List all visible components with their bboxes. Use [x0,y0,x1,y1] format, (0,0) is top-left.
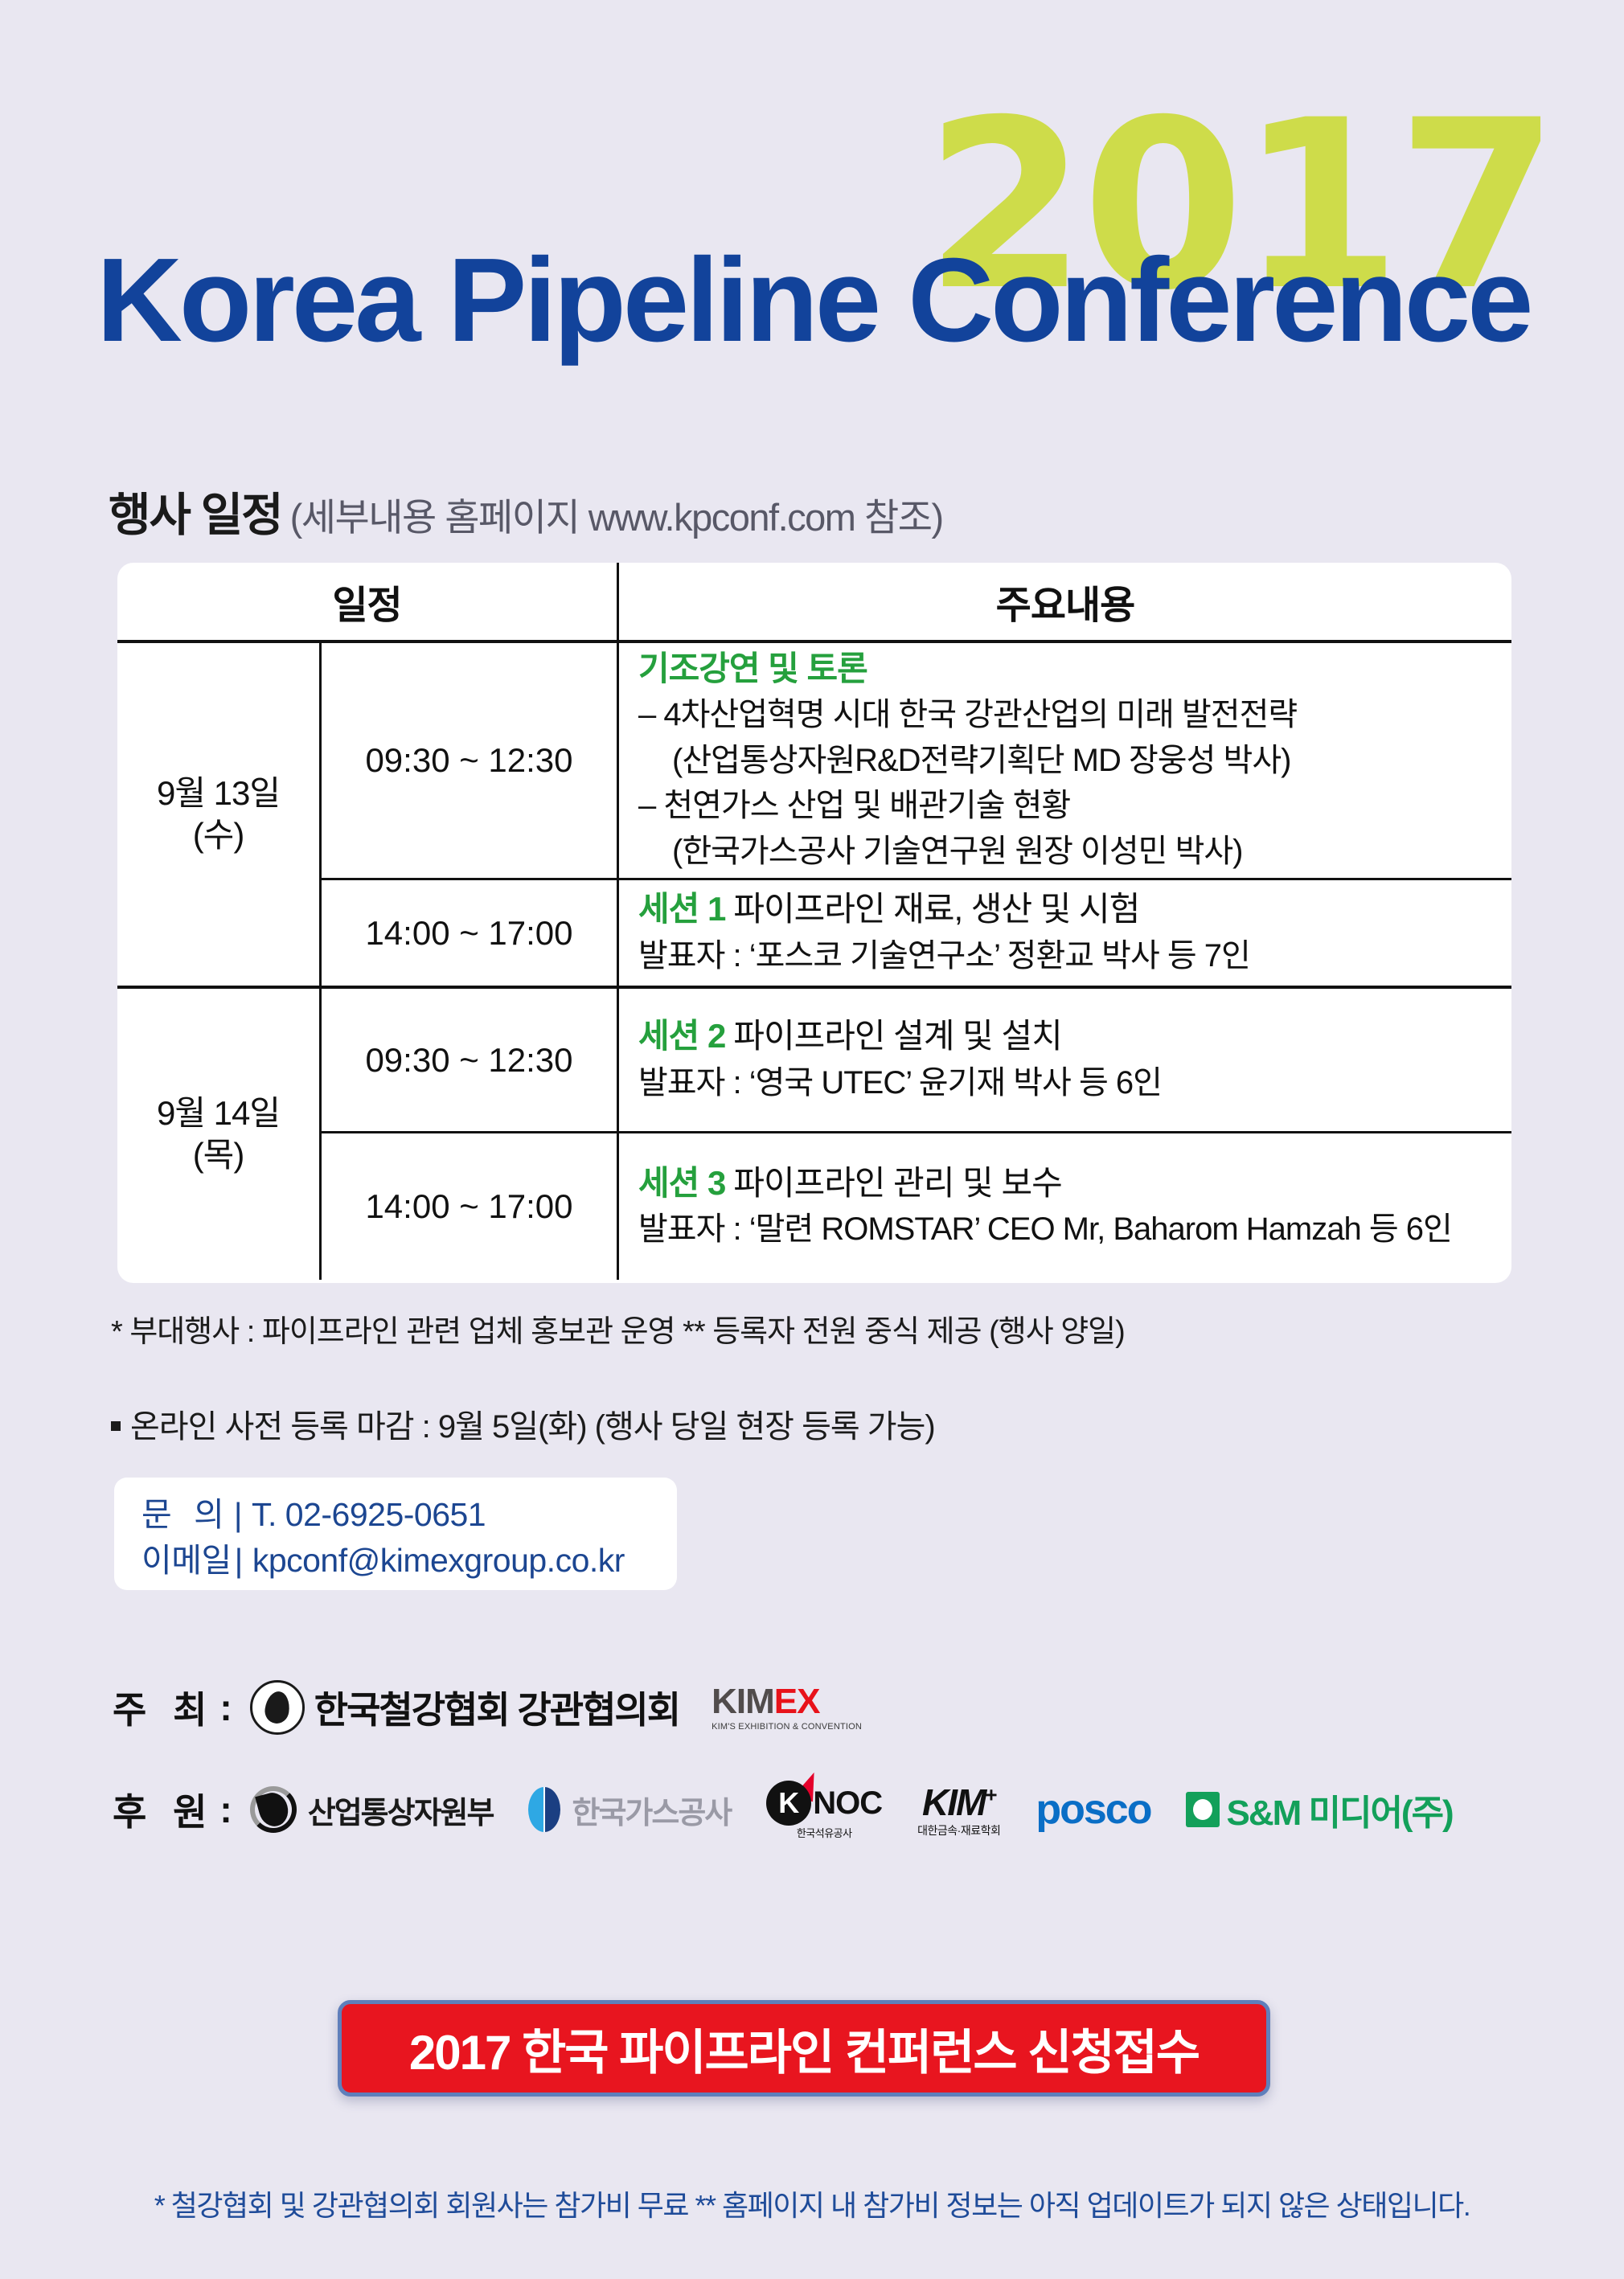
kimex-tagline: KIM'S EXHIBITION & CONVENTION [712,1723,862,1732]
sponsor-name: S&M 미디어(주) [1226,1784,1452,1835]
schedule-heading: 행사 일정(세부내용 홈페이지 www.kpconf.com 참조) [109,478,943,544]
session-time: 09:30 ~ 12:30 [322,643,617,878]
sponsor-label: 후 원 [113,1783,215,1836]
session-presenter: 발표자 : ‘포스코 기술연구소’ 정환교 박사 등 7인 [638,933,1497,979]
table-row: 14:00 ~ 17:00 세션 1파이프라인 재료, 생산 및 시험 발표자 … [322,880,1511,989]
kim-icon: KIM+ [922,1784,996,1821]
sponsor-colon: : [219,1788,232,1831]
contact-email-value[interactable]: kpconf@kimexgroup.co.kr [252,1542,625,1579]
session-content: 세션 2파이프라인 설계 및 설치 발표자 : ‘영국 UTEC’ 윤기재 박사… [617,989,1511,1131]
session-content: 기조강연 및 토론 – 4차산업혁명 시대 한국 강관산업의 미래 발전전략 (… [617,643,1511,878]
registration-deadline-note: 온라인 사전 등록 마감 : 9월 5일(화) (행사 당일 현장 등록 가능) [111,1400,935,1447]
sponsor-name-korean: 한국석유공사 [797,1828,852,1838]
session-time: 14:00 ~ 17:00 [322,1133,617,1280]
session-content: 세션 3파이프라인 관리 및 보수 발표자 : ‘말련 ROMSTAR’ CEO… [617,1133,1511,1280]
session-detail-line: – 4차산업혁명 시대 한국 강관산업의 미래 발전전략 [638,692,1497,738]
kimex-wordmark: KIMEX [712,1684,862,1719]
knoc-k-mark: K [766,1781,811,1826]
session-number: 세션 1 [638,890,725,928]
kimex-ex-part: EX [774,1682,820,1721]
sponsor-name: 산업통상자원부 [308,1788,494,1832]
sponsor-row: 후 원 : 산업통상자원부 한국가스공사 K NOC 한국석유공사 KIM+ 대… [113,1781,1453,1838]
table-row: 09:30 ~ 12:30 기조강연 및 토론 – 4차산업혁명 시대 한국 강… [322,643,1511,880]
sm-media-icon [1186,1792,1220,1827]
kim-wordmark: KIM [922,1781,985,1823]
contact-box: 문 의|T. 02-6925-0651 이메일|kpconf@kimexgrou… [114,1478,677,1590]
contact-phone-line: 문 의|T. 02-6925-0651 [141,1492,677,1538]
table-row-day-2: 9월 14일 (목) [117,989,319,1280]
sponsor-logo-kogas: 한국가스공사 [528,1787,731,1832]
session-subject: 파이프라인 관리 및 보수 [733,1164,1061,1202]
motie-taegeuk-icon [250,1786,297,1833]
schedule-heading-strong: 행사 일정 [109,490,282,541]
schedule-table: 일정 주요내용 9월 13일 (수) 9월 14일 (목) 09:30 ~ 12… [117,563,1511,1283]
contact-separator: | [235,1542,243,1579]
table-body: 9월 13일 (수) 9월 14일 (목) 09:30 ~ 12:30 기조강연… [117,643,1511,1280]
session-title: 세션 3파이프라인 관리 및 보수 [638,1161,1497,1207]
session-title: 세션 2파이프라인 설계 및 설치 [638,1014,1497,1060]
organizer-name: 한국철강협회 강관협의회 [314,1681,679,1734]
page-title: Korea Pipeline Conference [96,241,1530,360]
registration-deadline-text: 온라인 사전 등록 마감 : 9월 5일(화) (행사 당일 현장 등록 가능) [130,1409,935,1445]
knoc-icon: K NOC [766,1781,882,1826]
organizer-colon: : [219,1686,232,1729]
square-bullet-icon [111,1421,121,1431]
registration-cta-label: 2017 한국 파이프라인 컨퍼런스 신청접수 [409,2014,1199,2084]
sponsor-name-korean: 대한금속·재료학회 [917,1825,1000,1836]
column-header-date: 일정 [117,563,617,640]
kim-plus-mark: + [985,1782,995,1806]
contact-email-label: 이메일 [141,1542,232,1579]
registration-cta-button[interactable]: 2017 한국 파이프라인 컨퍼런스 신청접수 [338,2000,1270,2097]
table-row: 14:00 ~ 17:00 세션 3파이프라인 관리 및 보수 발표자 : ‘말… [322,1133,1511,1280]
kosa-emblem-icon [250,1680,305,1735]
kogas-icon [528,1787,560,1832]
sponsor-name: NOC [813,1787,882,1819]
footer-note: * 철강협회 및 강관협의회 회원사는 참가비 무료 ** 홈페이지 내 참가비… [0,2183,1624,2224]
session-rows: 09:30 ~ 12:30 기조강연 및 토론 – 4차산업혁명 시대 한국 강… [319,643,1511,1280]
session-title: 기조강연 및 토론 [638,646,1497,692]
session-title: 세션 1파이프라인 재료, 생산 및 시험 [638,887,1497,933]
day-1-date: 9월 13일 [157,773,280,815]
session-presenter: 발표자 : ‘영국 UTEC’ 윤기재 박사 등 6인 [638,1060,1497,1106]
kimex-k-part: KIM [712,1682,774,1721]
day-2-weekday: (목) [193,1134,244,1177]
session-number: 세션 2 [638,1017,725,1055]
session-detail-line: – 천연가스 산업 및 배관기술 현황 [638,783,1497,829]
session-subject: 파이프라인 설계 및 설치 [733,1017,1061,1055]
organizer-label: 주 최 [113,1681,215,1734]
organizer-logo-kimex: KIMEX KIM'S EXHIBITION & CONVENTION [712,1684,862,1732]
organizer-row: 주 최 : 한국철강협회 강관협의회 KIMEX KIM'S EXHIBITIO… [113,1680,862,1735]
column-header-content: 주요내용 [617,563,1511,640]
day-2-date: 9월 14일 [157,1092,280,1135]
table-row: 09:30 ~ 12:30 세션 2파이프라인 설계 및 설치 발표자 : ‘영… [322,989,1511,1133]
table-row-day-1: 9월 13일 (수) [117,643,319,989]
session-number: 세션 3 [638,1164,725,1202]
schedule-heading-sub: (세부내용 홈페이지 www.kpconf.com 참조) [290,496,943,539]
sponsor-logo-sm-media: S&M 미디어(주) [1186,1784,1452,1835]
sponsor-logo-motie: 산업통상자원부 [250,1786,494,1833]
side-event-note: * 부대행사 : 파이프라인 관련 업체 홍보관 운영 ** 등록자 전원 중식… [111,1306,1125,1351]
session-subject: 파이프라인 재료, 생산 및 시험 [733,890,1139,928]
sponsor-logo-kim: KIM+ 대한금속·재료학회 [917,1784,1000,1836]
session-presenter: 발표자 : ‘말련 ROMSTAR’ CEO Mr, Baharom Hamza… [638,1206,1497,1252]
sponsor-logo-knoc: K NOC 한국석유공사 [766,1781,882,1838]
contact-phone-label: 문 의 [141,1496,231,1533]
session-time: 14:00 ~ 17:00 [322,880,617,986]
contact-phone-value[interactable]: T. 02-6925-0651 [252,1496,486,1533]
conference-poster: 2017 Korea Pipeline Conference 행사 일정(세부내… [0,0,1624,2279]
session-detail-line: (한국가스공사 기술연구원 원장 이성민 박사) [638,829,1497,875]
day-1-weekday: (수) [193,814,244,857]
date-column: 9월 13일 (수) 9월 14일 (목) [117,643,319,1280]
contact-email-line: 이메일|kpconf@kimexgroup.co.kr [141,1538,677,1584]
table-header-row: 일정 주요내용 [117,563,1511,643]
session-detail-line: (산업통상자원R&D전략기획단 MD 장웅성 박사) [638,738,1497,784]
contact-separator: | [234,1496,242,1533]
session-content: 세션 1파이프라인 재료, 생산 및 시험 발표자 : ‘포스코 기술연구소’ … [617,880,1511,986]
sponsor-name: 한국가스공사 [572,1788,731,1832]
sponsor-logo-posco: posco [1036,1785,1150,1834]
session-time: 09:30 ~ 12:30 [322,989,617,1131]
organizer-logo-kosa: 한국철강협회 강관협의회 [250,1680,679,1735]
